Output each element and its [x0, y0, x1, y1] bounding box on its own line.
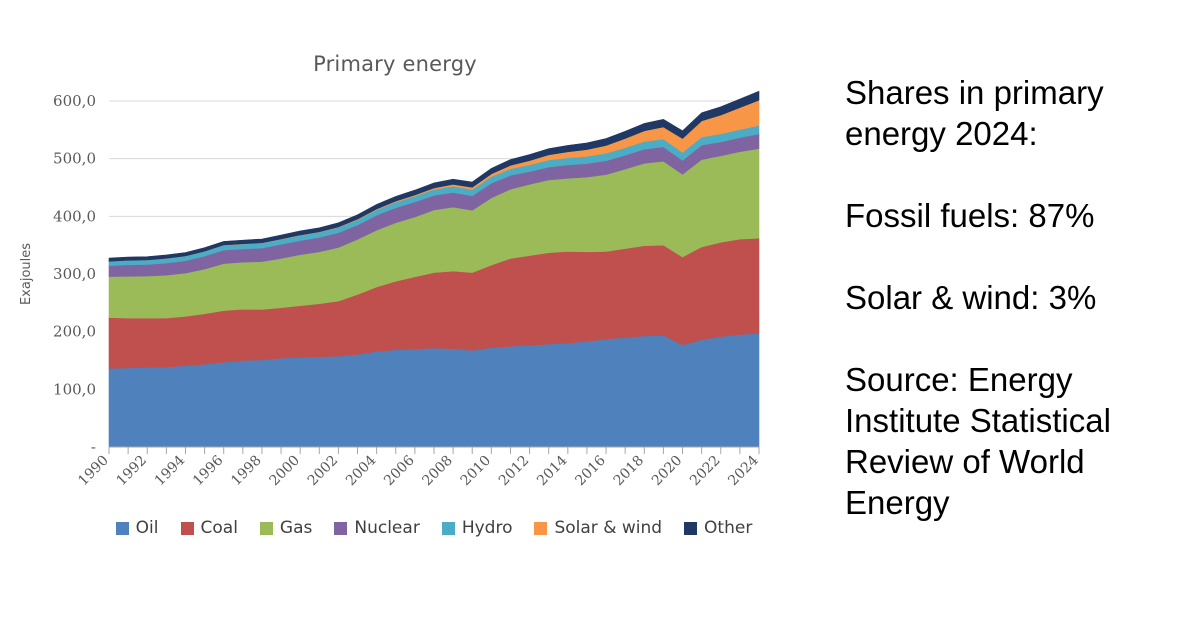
x-tick-label: 2014: [534, 452, 571, 489]
legend-label-coal: Coal: [201, 518, 238, 538]
legend-swatch-other: [684, 522, 697, 535]
legend-label-nuclear: Nuclear: [354, 518, 419, 538]
chart-panel: Primary energy -100,0200,0300,0400,0500,…: [0, 0, 800, 629]
legend-item-hydro[interactable]: Hydro: [442, 518, 513, 538]
y-axis-title-text: Exajoules: [19, 243, 34, 305]
chart-legend: OilCoalGasNuclearHydroSolar & windOther: [109, 518, 759, 538]
x-tick-label: 2008: [419, 453, 456, 490]
spacer: [845, 318, 1185, 359]
legend-item-gas[interactable]: Gas: [260, 518, 312, 538]
x-axis-tick-labels: 1990199219941996199820002002200420062008…: [75, 452, 762, 489]
legend-item-nuclear[interactable]: Nuclear: [334, 518, 419, 538]
notes-panel: Shares in primary energy 2024: Fossil fu…: [845, 72, 1185, 523]
x-tick-label: 2016: [572, 452, 609, 489]
y-tick-label: 400,0: [53, 207, 96, 225]
legend-label-solar-wind: Solar & wind: [554, 518, 662, 538]
spacer: [845, 236, 1185, 277]
x-tick-label: 1996: [190, 452, 227, 489]
legend-swatch-nuclear: [334, 522, 347, 535]
x-tick-label: 2010: [458, 453, 495, 490]
legend-swatch-hydro: [442, 522, 455, 535]
legend-label-gas: Gas: [280, 518, 312, 538]
x-tick-label: 2004: [343, 452, 380, 489]
source-note: Source: Energy Institute Statistical Rev…: [845, 359, 1185, 523]
legend-item-oil[interactable]: Oil: [116, 518, 159, 538]
stacked-area-chart: -100,0200,0300,0400,0500,0600,0 19901992…: [0, 0, 800, 560]
legend-item-solar-wind[interactable]: Solar & wind: [534, 518, 662, 538]
legend-label-oil: Oil: [136, 518, 159, 538]
x-tick-label: 2020: [649, 453, 686, 490]
y-tick-label: 500,0: [53, 150, 96, 168]
x-tick-label: 1998: [228, 453, 265, 490]
x-tick-label: 2018: [611, 453, 648, 490]
x-tick-label: 2006: [381, 452, 418, 489]
x-tick-label: 2024: [725, 452, 762, 489]
x-tick-label: 2002: [305, 453, 342, 490]
x-tick-label: 2000: [266, 453, 303, 490]
spacer: [845, 154, 1185, 195]
x-tick-label: 1990: [75, 453, 112, 490]
y-tick-label: -: [91, 438, 96, 456]
area-series-group: [109, 91, 759, 447]
x-tick-label: 1992: [114, 453, 151, 490]
x-tick-label: 2022: [687, 453, 724, 490]
legend-swatch-solar-wind: [534, 522, 547, 535]
legend-swatch-coal: [181, 522, 194, 535]
legend-item-coal[interactable]: Coal: [181, 518, 238, 538]
legend-item-other[interactable]: Other: [684, 518, 752, 538]
y-tick-label: 100,0: [53, 380, 96, 398]
y-axis-title: Exajoules: [19, 243, 34, 305]
x-tick-label: 2012: [496, 453, 533, 490]
legend-swatch-gas: [260, 522, 273, 535]
fossil-fuels-share: Fossil fuels: 87%: [845, 195, 1185, 236]
legend-label-other: Other: [704, 518, 752, 538]
solar-wind-share: Solar & wind: 3%: [845, 277, 1185, 318]
x-tick-label: 1994: [152, 452, 189, 489]
legend-swatch-oil: [116, 522, 129, 535]
y-tick-label: 300,0: [53, 265, 96, 283]
shares-heading: Shares in primary energy 2024:: [845, 72, 1185, 154]
x-axis-ticks: [109, 447, 759, 454]
y-tick-label: 600,0: [53, 92, 96, 110]
legend-label-hydro: Hydro: [462, 518, 513, 538]
y-axis-tick-labels: -100,0200,0300,0400,0500,0600,0: [53, 92, 96, 456]
y-tick-label: 200,0: [53, 323, 96, 341]
